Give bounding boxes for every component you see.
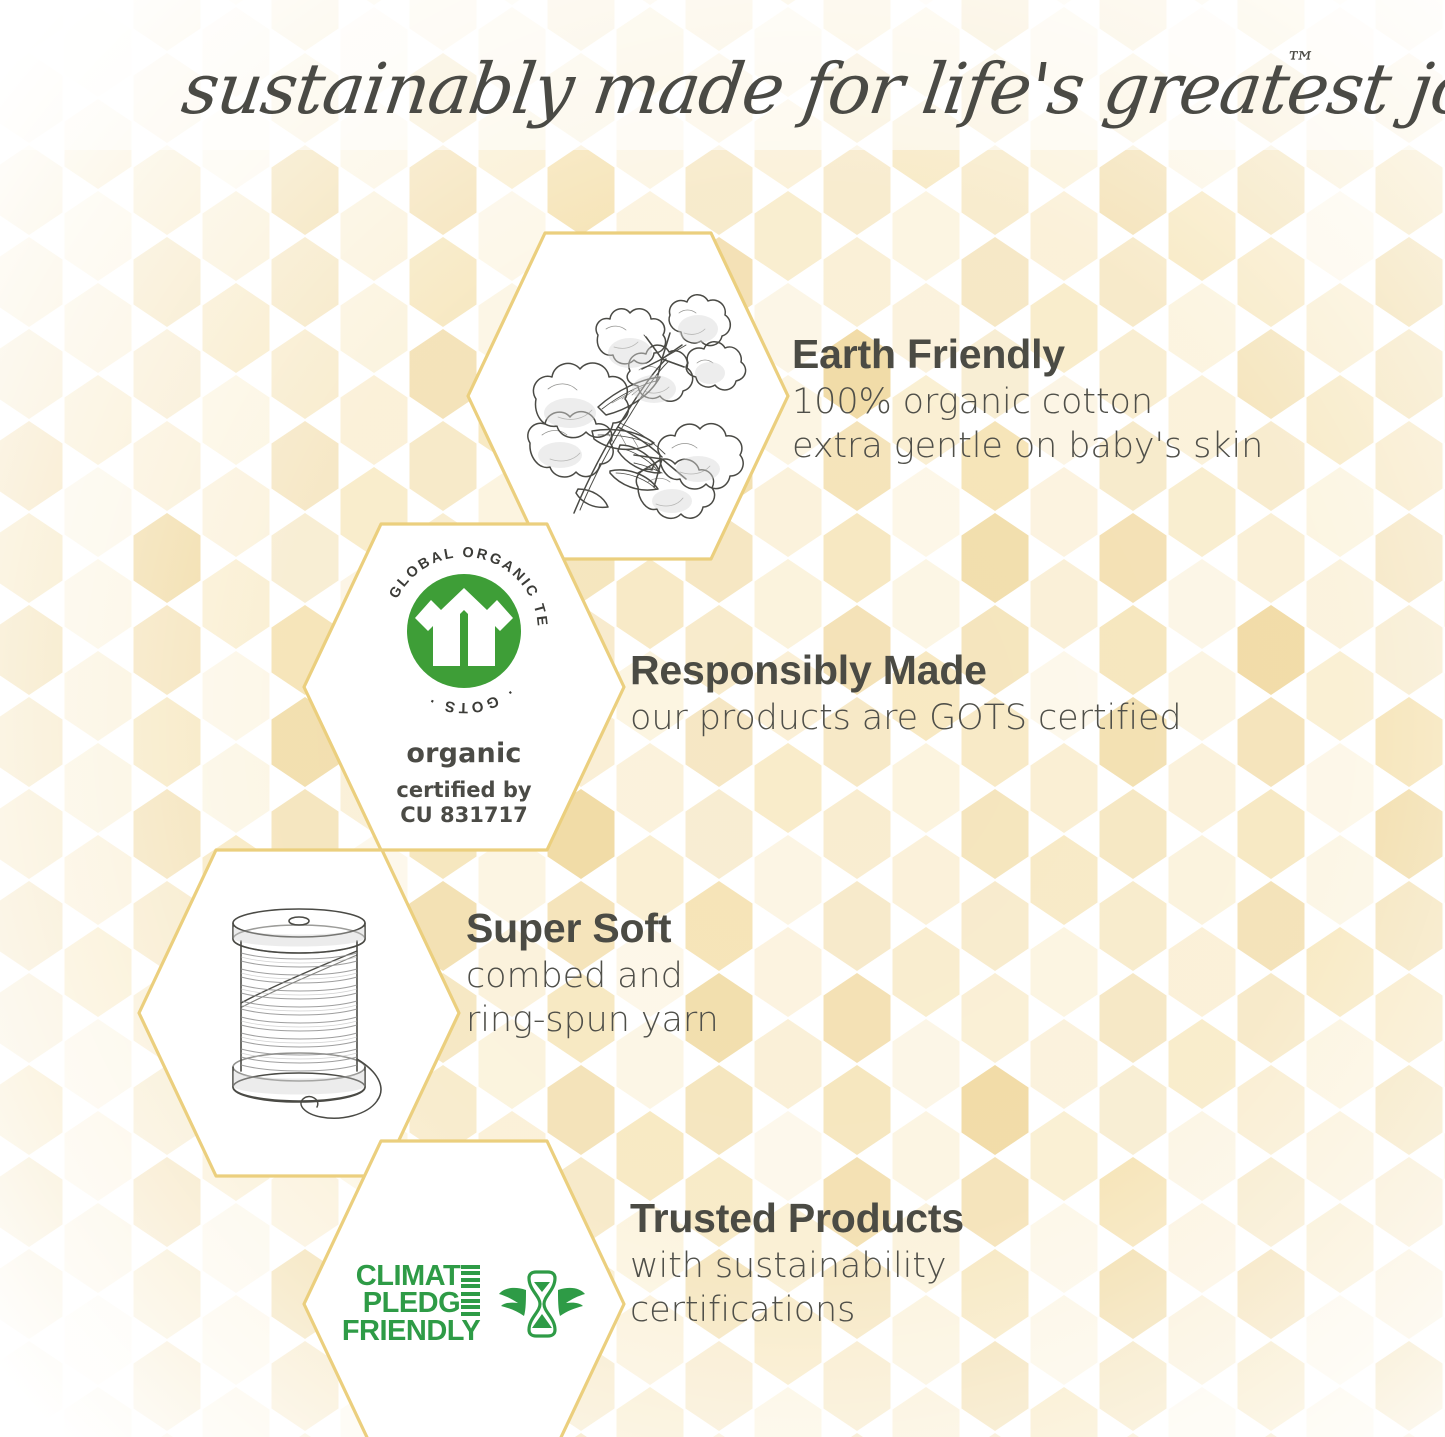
climate-pledge-friendly-icon: CLIMAT PLEDG FRIENDLY bbox=[342, 1263, 586, 1346]
feature-text-super-soft: Super Soft combed and ring-spun yarn bbox=[466, 906, 719, 1042]
gots-organic-label: organic bbox=[406, 738, 521, 769]
feature-line: ring-spun yarn bbox=[466, 998, 719, 1042]
feature-line: 100% organic cotton bbox=[792, 380, 1263, 424]
trademark-symbol: ™ bbox=[1282, 46, 1317, 81]
feature-line: our products are GOTS certified bbox=[630, 696, 1182, 740]
gots-badge: GLOBAL ORGANIC TEXTILE STANDARD · GOTS ·… bbox=[371, 538, 557, 828]
certifier-code: CU 831717 bbox=[400, 803, 527, 827]
feature-title: Super Soft bbox=[466, 906, 719, 950]
thread-spool-sketch-icon bbox=[181, 891, 417, 1135]
cpf-wordmark: CLIMAT PLEDG FRIENDLY bbox=[342, 1263, 480, 1346]
cpf-line-1: CLIMAT bbox=[356, 1263, 460, 1291]
winged-hourglass-icon bbox=[498, 1266, 586, 1342]
certified-by-label: certified by bbox=[396, 778, 531, 802]
feature-title: Earth Friendly bbox=[792, 332, 1263, 376]
feature-text-trusted-products: Trusted Products with sustainability cer… bbox=[630, 1196, 964, 1332]
feature-hexagon-trusted-products: CLIMAT PLEDG FRIENDLY bbox=[299, 1136, 629, 1437]
headline-script-text: sustainably made for life's greatest joy bbox=[177, 48, 1445, 130]
feature-hexagon-responsibly-made: GLOBAL ORGANIC TEXTILE STANDARD · GOTS ·… bbox=[299, 519, 629, 855]
sustainability-infographic: sustainably made for life's greatest joy… bbox=[0, 0, 1445, 1437]
feature-hexagon-super-soft bbox=[134, 845, 464, 1181]
feature-line: with sustainability bbox=[630, 1244, 964, 1288]
feature-text-responsibly-made: Responsibly Made our products are GOTS c… bbox=[630, 648, 1182, 740]
cpf-line-2: PLEDG bbox=[363, 1290, 460, 1318]
gots-certified-by: certified by CU 831717 bbox=[396, 778, 531, 828]
feature-title: Trusted Products bbox=[630, 1196, 964, 1240]
page-headline: sustainably made for life's greatest joy… bbox=[0, 34, 1445, 144]
feature-title: Responsibly Made bbox=[630, 648, 1182, 692]
gots-ring-text-bottom: · GOTS · bbox=[424, 684, 517, 716]
cpf-bars-icon bbox=[461, 1292, 480, 1316]
feature-text-earth-friendly: Earth Friendly 100% organic cotton extra… bbox=[792, 332, 1263, 468]
feature-line: certifications bbox=[630, 1288, 964, 1332]
cpf-line-3: FRIENDLY bbox=[342, 1318, 480, 1346]
cotton-plant-sketch-icon bbox=[502, 267, 754, 525]
feature-line: extra gentle on baby's skin bbox=[792, 424, 1263, 468]
feature-line: combed and bbox=[466, 954, 719, 998]
cpf-bars-icon bbox=[461, 1265, 480, 1289]
feature-hexagon-earth-friendly bbox=[463, 228, 793, 564]
gots-certification-icon: GLOBAL ORGANIC TEXTILE STANDARD · GOTS · bbox=[371, 538, 557, 724]
